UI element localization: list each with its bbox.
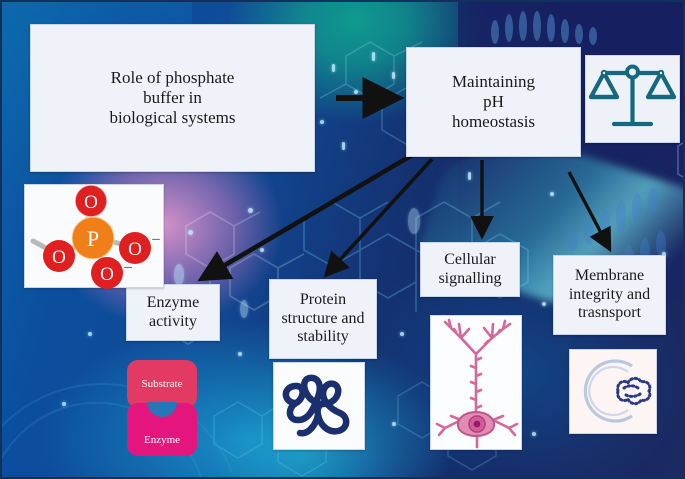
svg-text:O: O bbox=[52, 247, 66, 268]
substrate-shape: Substrate bbox=[127, 360, 197, 408]
node-ph-homeostasis[interactable]: Maintaining pH homeostasis bbox=[406, 47, 581, 157]
node-title[interactable]: Role of phosphate buffer in biological s… bbox=[30, 24, 315, 172]
node-cellular-signalling[interactable]: Cellular signalling bbox=[420, 242, 520, 297]
phosphate-ion-card: O O O – O – P bbox=[24, 184, 164, 288]
ph-line-2: pH bbox=[483, 92, 504, 111]
membrane-line-1: Membrane bbox=[575, 267, 644, 284]
cell-membrane-card bbox=[569, 349, 657, 434]
title-line-3: biological systems bbox=[109, 108, 235, 127]
ph-line-3: homeostasis bbox=[452, 112, 535, 131]
enzyme-line-1: Enzyme bbox=[147, 294, 199, 311]
protein-line-1: Protein bbox=[300, 291, 346, 308]
svg-text:O: O bbox=[100, 264, 114, 285]
substrate-label: Substrate bbox=[142, 378, 183, 390]
neuron-icon bbox=[431, 316, 521, 449]
protein-line-2: structure and bbox=[281, 310, 364, 327]
node-protein-structure[interactable]: Protein structure and stability bbox=[269, 279, 377, 359]
node-enzyme-activity[interactable]: Enzyme activity bbox=[126, 284, 220, 341]
membrane-line-3: trasnsport bbox=[578, 304, 641, 321]
title-line-2: buffer in bbox=[143, 88, 202, 107]
membrane-line-2: integrity and bbox=[569, 286, 650, 303]
svg-text:–: – bbox=[151, 231, 160, 247]
cell-membrane-icon bbox=[570, 350, 656, 433]
balance-scale-card bbox=[585, 55, 680, 143]
svg-text:O: O bbox=[128, 239, 142, 260]
protein-line-3: stability bbox=[297, 328, 349, 345]
node-membrane-integrity[interactable]: Membrane integrity and trasnsport bbox=[553, 255, 666, 335]
signal-line-2: signalling bbox=[438, 270, 501, 287]
enzyme-shape: Enzyme bbox=[127, 403, 197, 456]
ph-line-1: Maintaining bbox=[452, 72, 535, 91]
protein-fold-icon bbox=[274, 363, 364, 449]
svg-text:P: P bbox=[87, 226, 99, 251]
neuron-card bbox=[430, 315, 522, 450]
enzyme-line-2: activity bbox=[149, 313, 197, 330]
title-line-1: Role of phosphate bbox=[111, 68, 235, 87]
svg-text:O: O bbox=[84, 192, 98, 213]
diagram-canvas: Role of phosphate buffer in biological s… bbox=[0, 0, 685, 479]
balance-scale-icon bbox=[586, 56, 679, 142]
signal-line-1: Cellular bbox=[444, 251, 496, 268]
protein-fold-card bbox=[273, 362, 365, 450]
phosphate-ion-icon: O O O – O – P bbox=[25, 185, 163, 287]
svg-text:–: – bbox=[123, 259, 132, 275]
enzyme-label: Enzyme bbox=[144, 434, 180, 446]
